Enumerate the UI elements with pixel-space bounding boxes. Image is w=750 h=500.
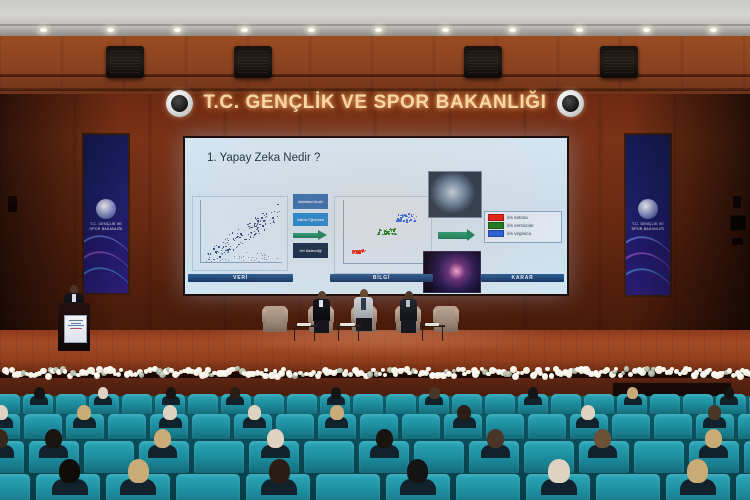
legend-item-virginica: iris virginica — [488, 230, 558, 237]
scatter-point — [225, 254, 226, 255]
flower — [63, 369, 67, 373]
audience-head — [154, 429, 171, 448]
flower — [475, 370, 479, 374]
scatter-point — [219, 256, 220, 257]
scatter-point — [400, 220, 402, 222]
table-items — [340, 323, 355, 326]
audience-seat — [353, 394, 383, 414]
legend-swatch-setosa — [488, 214, 504, 221]
scatter-point — [246, 239, 247, 240]
scatter-point — [273, 220, 274, 221]
process-box-1-label: İstatistiksel Analiz — [293, 194, 328, 209]
scatter-point — [228, 260, 229, 261]
scatter-point — [265, 217, 266, 218]
ministry-emblem-left — [166, 90, 193, 117]
stage-bar-bilgi: BİLGİ — [330, 274, 433, 282]
scatter-point — [248, 257, 249, 258]
scatter-point — [225, 250, 226, 251]
scatter-point — [214, 246, 215, 247]
audience-seat — [654, 414, 692, 439]
wall-fixture-right-2 — [730, 215, 746, 231]
scatter-point — [225, 243, 226, 244]
scatter-point — [362, 251, 364, 253]
scatter-point — [233, 249, 234, 250]
scatter-point — [227, 242, 228, 243]
scatter-point — [258, 230, 259, 231]
scatter-point — [406, 221, 408, 223]
flower — [426, 367, 430, 371]
scatter-point — [229, 234, 230, 235]
panelist-3 — [399, 291, 418, 332]
scatter-point — [409, 217, 411, 219]
side-table-3 — [420, 325, 445, 341]
downlight — [576, 28, 583, 32]
scatter-point — [255, 223, 256, 224]
scatter-point — [232, 232, 233, 233]
scatter-point — [249, 223, 250, 224]
downlight — [442, 28, 449, 32]
legend-label-setosa: iris setosa — [507, 215, 528, 220]
banner-logo-right — [638, 199, 658, 219]
iris-legend: iris setosa iris versicolor iris virgini… — [484, 211, 562, 243]
audience-head — [548, 459, 569, 483]
scatter-points-raw — [201, 201, 283, 263]
flower — [205, 367, 211, 373]
scatter-point — [257, 218, 258, 219]
scatter-point — [244, 239, 245, 240]
classified-scatter-plot — [334, 196, 432, 274]
podium-sign-line-1 — [69, 320, 83, 321]
audience-head — [267, 429, 284, 448]
scatter-point — [359, 250, 361, 252]
scatter-point — [410, 219, 412, 221]
scatter-point — [362, 252, 364, 254]
audience-head — [429, 387, 440, 399]
audience-head — [163, 405, 177, 420]
scatter-point — [266, 213, 267, 214]
scatter-point — [237, 246, 238, 247]
audience-head — [98, 387, 109, 399]
process-box-1: İstatistiksel Analiz — [293, 194, 328, 209]
scatter-point — [240, 242, 241, 243]
audience-seat — [386, 394, 416, 414]
scatter-point — [251, 232, 252, 233]
raw-data-scatter-plot — [192, 196, 288, 271]
scatter-point — [271, 212, 272, 213]
audience-seat — [650, 394, 680, 414]
side-table-1 — [292, 325, 317, 341]
scatter-point — [354, 251, 356, 253]
scatter-point — [224, 252, 225, 253]
scatter-point — [262, 255, 263, 256]
ministry-emblem-right — [557, 90, 584, 117]
auditorium-photo: T.C. GENÇLİK VE SPOR BAKANLIĞI T.C. GENÇ… — [0, 0, 750, 500]
audience-seat — [287, 394, 317, 414]
process-box-2-label: Makine Öğrenmesi — [293, 213, 328, 226]
audience-head — [330, 405, 344, 420]
flower — [451, 373, 458, 380]
stage-bar-karar: KARAR — [481, 274, 564, 282]
stage-bar-veri: VERİ — [188, 274, 293, 282]
banner-label-right-2: SPOR BAKANLIĞI — [626, 227, 670, 232]
scatter-point — [249, 239, 250, 240]
ceiling-speaker-row — [0, 46, 750, 80]
audience-head — [708, 405, 722, 420]
audience-seat — [596, 474, 660, 500]
flower — [687, 367, 693, 373]
scatter-point — [216, 245, 217, 246]
podium-sign-line-2 — [71, 323, 81, 324]
audience-head — [59, 459, 80, 483]
scatter-point — [214, 259, 215, 260]
flower — [116, 372, 121, 377]
scatter-point — [385, 233, 387, 235]
audience-seat — [402, 414, 440, 439]
scatter-point — [264, 257, 265, 258]
downlight — [40, 28, 47, 32]
audience-seat — [634, 441, 684, 473]
audience-head — [34, 387, 45, 399]
arrow-head-icon — [318, 230, 327, 240]
process-box-3: Veri Madenciliği — [293, 243, 328, 258]
scatter-point — [246, 252, 247, 253]
audience-head — [230, 387, 241, 399]
banner-logo-left — [96, 199, 116, 219]
audience-head — [248, 405, 262, 420]
scatter-point — [403, 220, 405, 222]
scatter-point — [210, 253, 211, 254]
scatter-point — [364, 251, 366, 253]
audience-seat — [0, 474, 30, 500]
scatter-point — [414, 220, 416, 222]
downlight — [375, 28, 382, 32]
audience-seat — [736, 474, 750, 500]
wall-speaker-left — [8, 196, 17, 212]
ceiling-speaker — [464, 46, 502, 78]
podium-sign-line-3 — [68, 325, 84, 326]
audience-head — [581, 405, 595, 420]
audience-head — [376, 429, 393, 448]
ceiling-speaker — [600, 46, 638, 78]
flower — [624, 366, 629, 371]
scatter-point — [397, 220, 399, 222]
podium — [58, 303, 90, 351]
audience-head — [687, 459, 708, 483]
audience-seat — [738, 414, 750, 439]
wall-fixture-right-1 — [733, 196, 741, 208]
downlight — [710, 28, 717, 32]
speaker-shirt — [72, 294, 76, 302]
scatter-point — [250, 236, 251, 237]
panelist-3-shirt — [406, 300, 410, 307]
scatter-point — [239, 237, 240, 238]
ministry-logo-icon — [96, 199, 116, 219]
scatter-point — [266, 259, 267, 260]
scatter-point — [264, 259, 265, 260]
audience-seat — [192, 414, 230, 439]
right-banner: T.C. GENÇLİK VE SPOR BAKANLIĞI — [624, 133, 672, 297]
downlight — [174, 28, 181, 32]
audience-head — [457, 405, 471, 420]
audience-head — [724, 387, 735, 399]
downlight — [308, 28, 315, 32]
axis-y-raw — [200, 200, 201, 262]
flower — [542, 373, 549, 380]
scatter-point — [260, 221, 261, 222]
audience-head — [528, 387, 539, 399]
scatter-points-classified — [344, 201, 426, 263]
legend-swatch-virginica — [488, 230, 504, 237]
empty-chair-left — [263, 306, 287, 332]
audience-seat — [108, 414, 146, 439]
scatter-point — [236, 237, 237, 238]
banner-label-left-2: SPOR BAKANLIĞI — [84, 227, 128, 232]
scatter-point — [217, 258, 218, 259]
audience-seat — [485, 394, 515, 414]
scatter-point — [265, 220, 266, 221]
scatter-point — [241, 235, 242, 236]
flower — [383, 373, 387, 377]
scatter-point — [208, 254, 209, 255]
scatter-point — [406, 219, 408, 221]
table-leg — [338, 327, 339, 341]
scatter-point — [359, 252, 361, 254]
scatter-point — [259, 224, 260, 225]
scatter-point — [236, 247, 237, 248]
scatter-point — [388, 233, 390, 235]
audience-head — [705, 429, 722, 448]
arrow-head-icon — [467, 229, 475, 241]
scatter-point — [243, 260, 244, 261]
scatter-point — [253, 237, 254, 238]
panelist-2-inner — [361, 298, 366, 310]
scatter-point — [403, 216, 405, 218]
downlight — [509, 28, 516, 32]
podium-sign — [64, 315, 87, 343]
axis-x-raw — [200, 262, 282, 263]
scatter-point — [413, 214, 415, 216]
flower — [94, 372, 101, 379]
panelist-1-shirt — [319, 300, 323, 307]
scatter-point — [279, 211, 280, 212]
arrow-shaft — [438, 232, 468, 239]
legend-item-setosa: iris setosa — [488, 214, 558, 221]
audience-seat — [744, 441, 750, 473]
thinker-statue-photo — [428, 171, 482, 218]
arrow-shaft — [293, 233, 319, 238]
scatter-point — [230, 246, 231, 247]
audience-seat — [551, 394, 581, 414]
audience-head — [407, 459, 428, 483]
scatter-point — [238, 229, 239, 230]
audience-head — [627, 387, 638, 399]
legend-label-versicolor: iris versicolor — [507, 223, 534, 228]
scatter-point — [234, 256, 235, 257]
audience-head — [269, 459, 290, 483]
scatter-point — [234, 240, 235, 241]
scatter-point — [238, 244, 239, 245]
scatter-point — [379, 229, 381, 231]
flower — [264, 368, 268, 372]
flower — [614, 367, 618, 371]
scatter-point — [259, 233, 260, 234]
podium-sign-line-4 — [70, 328, 82, 329]
ministry-logo-icon — [638, 199, 658, 219]
scatter-point — [248, 234, 249, 235]
audience-seat — [304, 441, 354, 473]
scatter-point — [261, 217, 262, 218]
scatter-point — [228, 244, 229, 245]
scatter-point — [239, 258, 240, 259]
flower — [348, 372, 353, 377]
flower-border — [0, 366, 750, 382]
ceiling-downlights — [0, 28, 750, 34]
process-box-2: Makine Öğrenmesi — [293, 213, 328, 226]
audience-head — [487, 429, 504, 448]
scatter-point — [262, 225, 263, 226]
audience-seat — [188, 394, 218, 414]
scatter-point — [209, 259, 210, 260]
panelist-3-legs — [401, 320, 416, 333]
ministry-sign-text: T.C. GENÇLİK VE SPOR BAKANLIĞI — [203, 92, 546, 114]
neural-brain-photo — [423, 251, 481, 293]
audience-seat — [528, 414, 566, 439]
scatter-point — [268, 256, 269, 257]
scatter-point — [411, 216, 413, 218]
audience-head — [45, 429, 62, 448]
scatter-point — [223, 246, 224, 247]
legend-swatch-versicolor — [488, 222, 504, 229]
scatter-point — [243, 256, 244, 257]
scatter-point — [252, 257, 253, 258]
scatter-point — [381, 230, 383, 232]
scatter-point — [405, 215, 407, 217]
audience-head — [166, 387, 177, 399]
audience-seat — [612, 414, 650, 439]
scatter-point — [215, 252, 216, 253]
scatter-point — [207, 253, 208, 254]
scatter-point — [251, 227, 252, 228]
scatter-point — [256, 225, 257, 226]
audience-head — [128, 459, 149, 483]
scatter-point — [277, 204, 278, 205]
scatter-point — [277, 258, 278, 259]
stage-floor-glow — [170, 330, 590, 364]
process-arrow-1 — [293, 231, 328, 240]
axis-x-classified — [343, 263, 426, 264]
table-leg — [294, 327, 295, 341]
audience-seat — [176, 474, 240, 500]
table-leg — [442, 327, 443, 341]
audience-seat — [122, 394, 152, 414]
scatter-point — [237, 233, 238, 234]
scatter-point — [254, 231, 255, 232]
scatter-point — [242, 243, 243, 244]
audience-head — [594, 429, 611, 448]
scatter-point — [416, 216, 418, 218]
scatter-point — [240, 233, 241, 234]
table-leg — [422, 327, 423, 341]
scatter-point — [274, 222, 275, 223]
audience-seating — [0, 396, 750, 500]
ministry-sign: T.C. GENÇLİK VE SPOR BAKANLIĞI — [140, 88, 610, 118]
process-arrow-2 — [438, 230, 480, 242]
scatter-point — [408, 213, 410, 215]
flower — [378, 372, 382, 376]
projection-screen: 1. Yapay Zeka Nedir ? İstatistiksel Anal… — [183, 136, 569, 296]
scatter-point — [257, 253, 258, 254]
audience-seat — [316, 474, 380, 500]
scatter-point — [393, 230, 395, 232]
audience-seat — [194, 441, 244, 473]
scatter-point — [356, 252, 358, 254]
scatter-point — [241, 257, 242, 258]
ceiling-speaker — [106, 46, 144, 78]
flower — [45, 373, 52, 380]
ceiling-seam — [0, 24, 750, 26]
scatter-point — [384, 230, 386, 232]
scatter-point — [262, 258, 263, 259]
scatter-point — [218, 252, 219, 253]
scatter-point — [218, 246, 219, 247]
flower — [119, 368, 123, 372]
presentation-slide: 1. Yapay Zeka Nedir ? İstatistiksel Anal… — [185, 138, 567, 294]
scatter-point — [414, 218, 416, 220]
slide-title: 1. Yapay Zeka Nedir ? — [207, 152, 320, 164]
flower — [281, 367, 286, 372]
scatter-point — [400, 218, 402, 220]
flower — [545, 367, 550, 372]
left-banner: T.C. GENÇLİK VE SPOR BAKANLIĞI — [82, 133, 130, 295]
scatter-point — [221, 250, 222, 251]
downlight — [643, 28, 650, 32]
scatter-point — [387, 233, 389, 235]
scatter-point — [225, 259, 226, 260]
scatter-point — [266, 216, 267, 217]
scatter-point — [413, 221, 415, 223]
scatter-point — [225, 239, 226, 240]
scatter-point — [399, 220, 401, 222]
audience-head — [331, 387, 342, 399]
scatter-point — [272, 217, 273, 218]
process-box-3-label: Veri Madenciliği — [293, 243, 328, 258]
scatter-point — [221, 253, 222, 254]
flower — [381, 368, 385, 372]
table-leg — [314, 327, 315, 341]
scatter-point — [274, 211, 275, 212]
scatter-point — [228, 251, 229, 252]
axis-y-classified — [343, 200, 344, 263]
scatter-point — [222, 254, 223, 255]
audience-seat — [84, 441, 134, 473]
scatter-point — [249, 228, 250, 229]
table-items — [425, 323, 439, 326]
scatter-point — [265, 223, 266, 224]
scatter-point — [394, 233, 396, 235]
scatter-point — [222, 259, 223, 260]
scatter-point — [228, 240, 229, 241]
scatter-point — [277, 216, 278, 217]
flower — [549, 373, 555, 379]
scatter-point — [263, 220, 264, 221]
scatter-point — [247, 224, 248, 225]
downlight — [241, 28, 248, 32]
table-items — [297, 323, 311, 326]
side-table-2 — [336, 325, 361, 341]
table-leg — [358, 327, 359, 341]
wall-fixture-right-3 — [732, 238, 743, 245]
legend-item-versicolor: iris versicolor — [488, 222, 558, 229]
